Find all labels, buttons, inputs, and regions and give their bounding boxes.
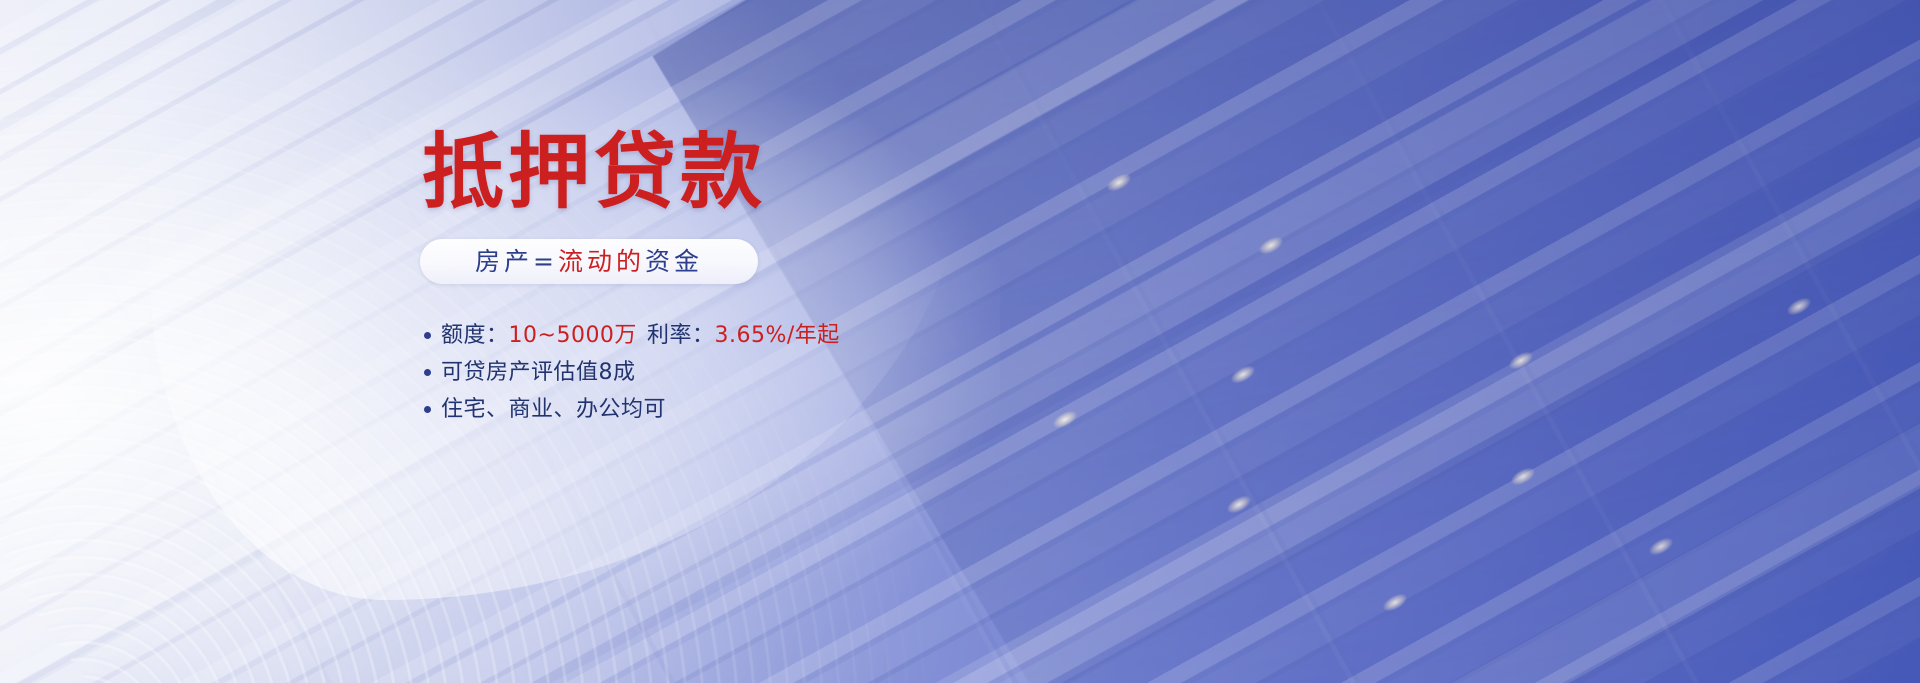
bullet-dot-icon <box>424 406 431 413</box>
bullet-ltv: 可贷房产评估值8成 <box>441 362 636 384</box>
tagline-text: 房产=流动的资金 <box>475 249 703 274</box>
feature-list: 额度：10~5000万利率：3.65%/年起 可贷房产评估值8成 住宅、商业、办… <box>424 318 840 429</box>
bullet-dot-icon <box>424 332 431 339</box>
bullet-dot-icon <box>424 369 431 376</box>
rate-label: 利率： <box>647 323 715 348</box>
list-item: 住宅、商业、办公均可 <box>424 392 840 427</box>
tagline-segment-1: 房产= <box>475 247 558 276</box>
bullet-amount-rate: 额度：10~5000万利率：3.65%/年起 <box>441 325 840 347</box>
tagline-segment-3: 资金 <box>645 247 703 276</box>
list-item: 可贷房产评估值8成 <box>424 355 840 390</box>
list-item: 额度：10~5000万利率：3.65%/年起 <box>424 318 840 353</box>
mortgage-loan-banner: 抵押贷款 房产=流动的资金 额度：10~5000万利率：3.65%/年起 可贷房… <box>0 0 1920 683</box>
amount-value: 10~5000万 <box>509 323 637 348</box>
bullet-property-types: 住宅、商业、办公均可 <box>441 399 666 421</box>
rate-value: 3.65%/年起 <box>714 323 839 348</box>
banner-content: 抵押贷款 房产=流动的资金 额度：10~5000万利率：3.65%/年起 可贷房… <box>0 0 1920 683</box>
tagline-pill: 房产=流动的资金 <box>420 239 758 284</box>
amount-label: 额度： <box>441 323 509 348</box>
headline-title: 抵押贷款 <box>422 132 766 214</box>
tagline-segment-2: 流动的 <box>558 247 645 276</box>
